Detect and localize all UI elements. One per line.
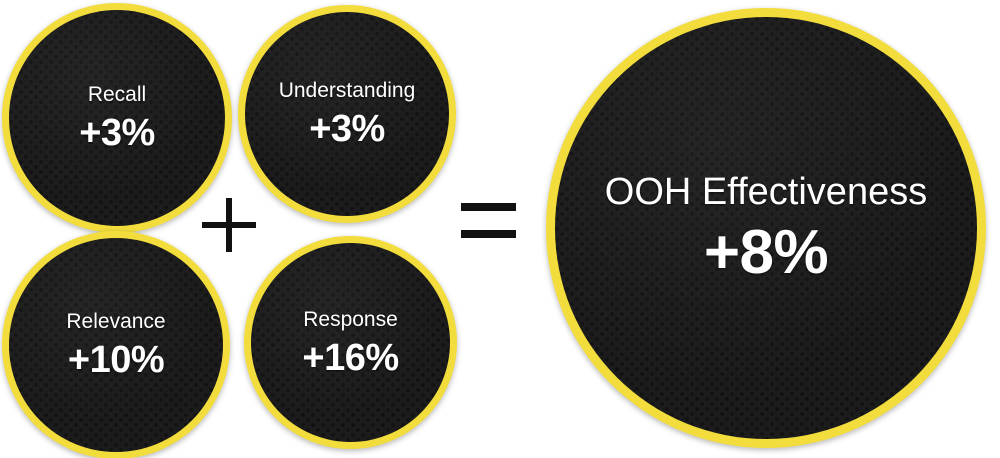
infographic-canvas: Recall +3% Understanding +3% Relevance +… <box>0 0 1000 458</box>
plus-operator-icon <box>202 198 256 252</box>
metric-value-response: +16% <box>302 339 398 377</box>
metric-bubble-relevance: Relevance +10% <box>2 231 230 458</box>
equals-top-bar <box>461 203 516 211</box>
metric-disc-recall: Recall +3% <box>9 10 225 226</box>
metric-value-recall: +3% <box>79 114 155 152</box>
plus-vertical-bar <box>226 198 232 252</box>
metric-label-relevance: Relevance <box>66 311 165 332</box>
metric-bubble-recall: Recall +3% <box>2 3 232 233</box>
metric-disc-understanding: Understanding +3% <box>245 12 449 216</box>
metric-disc-response: Response +16% <box>251 243 450 442</box>
metric-label-understanding: Understanding <box>279 80 416 101</box>
result-label: OOH Effectiveness <box>605 173 927 211</box>
metric-bubble-understanding: Understanding +3% <box>238 5 456 223</box>
metric-value-relevance: +10% <box>68 341 164 379</box>
result-disc: OOH Effectiveness +8% <box>555 17 977 439</box>
metric-bubble-response: Response +16% <box>244 236 457 449</box>
result-value: +8% <box>704 222 828 284</box>
equals-bottom-bar <box>461 230 516 238</box>
metric-disc-relevance: Relevance +10% <box>9 238 223 452</box>
metric-value-understanding: +3% <box>309 110 385 148</box>
equals-operator-icon <box>461 203 516 247</box>
metric-label-recall: Recall <box>88 84 146 105</box>
result-bubble-ooh-effectiveness: OOH Effectiveness +8% <box>546 8 986 448</box>
metric-label-response: Response <box>303 309 398 330</box>
